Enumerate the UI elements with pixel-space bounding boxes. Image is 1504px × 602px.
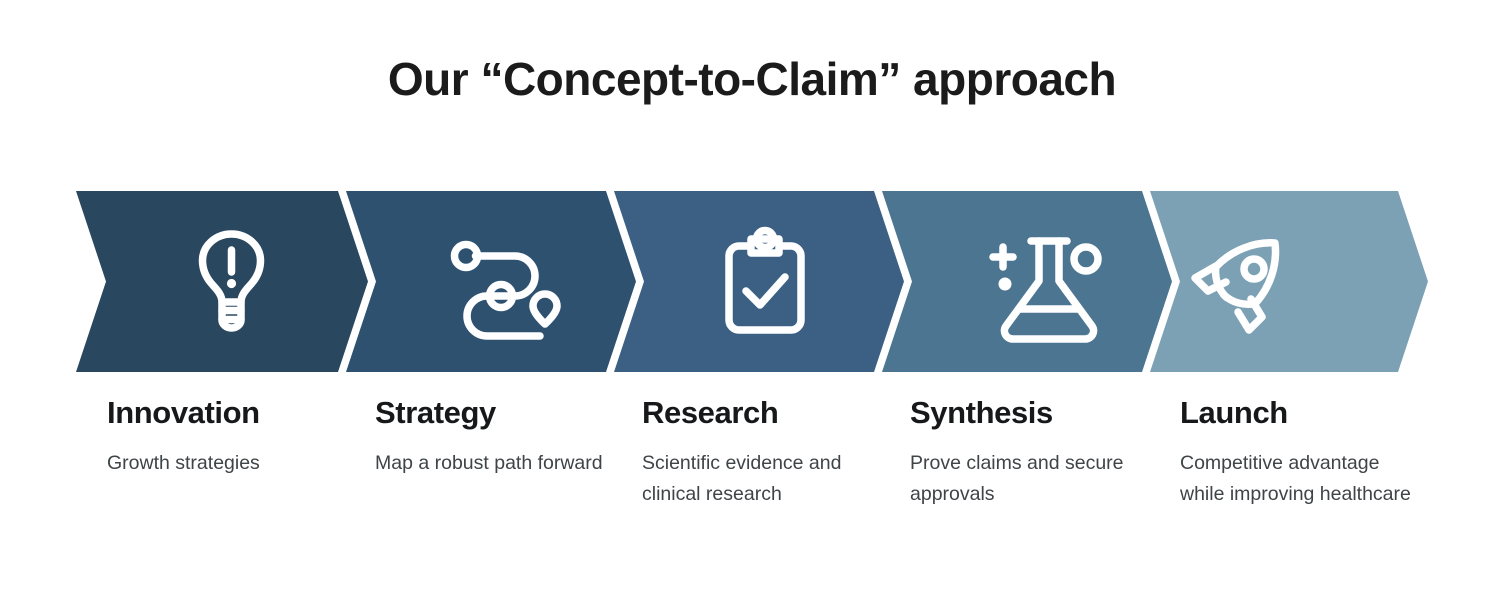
infographic-page: Our “Concept-to-Claim” approach [0, 0, 1504, 602]
step-column-synthesis: Synthesis Prove claims and secure approv… [910, 396, 1160, 509]
step-heading: Innovation [107, 396, 357, 429]
step-description: Prove claims and secure approvals [910, 448, 1145, 508]
step-column-research: Research Scientific evidence and clinica… [642, 396, 892, 509]
step-description: Map a robust path forward [375, 448, 610, 478]
step-heading: Synthesis [910, 396, 1160, 429]
step-column-strategy: Strategy Map a robust path forward [375, 396, 625, 479]
chevron-shape-1 [76, 191, 368, 372]
chevron-shape-3 [614, 191, 904, 372]
step-labels: Innovation Growth strategies Strategy Ma… [76, 396, 1432, 576]
chevron-shape-2 [346, 191, 636, 372]
chevron-shape-4 [882, 191, 1172, 372]
step-heading: Research [642, 396, 892, 429]
chevron-step-4[interactable] [882, 191, 1172, 372]
step-description: Competitive advantage while improving he… [1180, 448, 1428, 508]
step-heading: Strategy [375, 396, 625, 429]
step-description: Growth strategies [107, 448, 342, 478]
step-description: Scientific evidence and clinical researc… [642, 448, 877, 508]
chevron-step-5[interactable] [1150, 191, 1428, 372]
chevron-shape-5 [1150, 191, 1428, 372]
step-heading: Launch [1180, 396, 1430, 429]
chevron-band [76, 191, 1432, 372]
chevron-step-2[interactable] [346, 191, 636, 372]
page-title: Our “Concept-to-Claim” approach [0, 52, 1504, 106]
step-column-innovation: Innovation Growth strategies [107, 396, 357, 479]
chevron-step-3[interactable] [614, 191, 904, 372]
chevron-step-1[interactable] [76, 191, 368, 372]
step-column-launch: Launch Competitive advantage while impro… [1180, 396, 1430, 509]
